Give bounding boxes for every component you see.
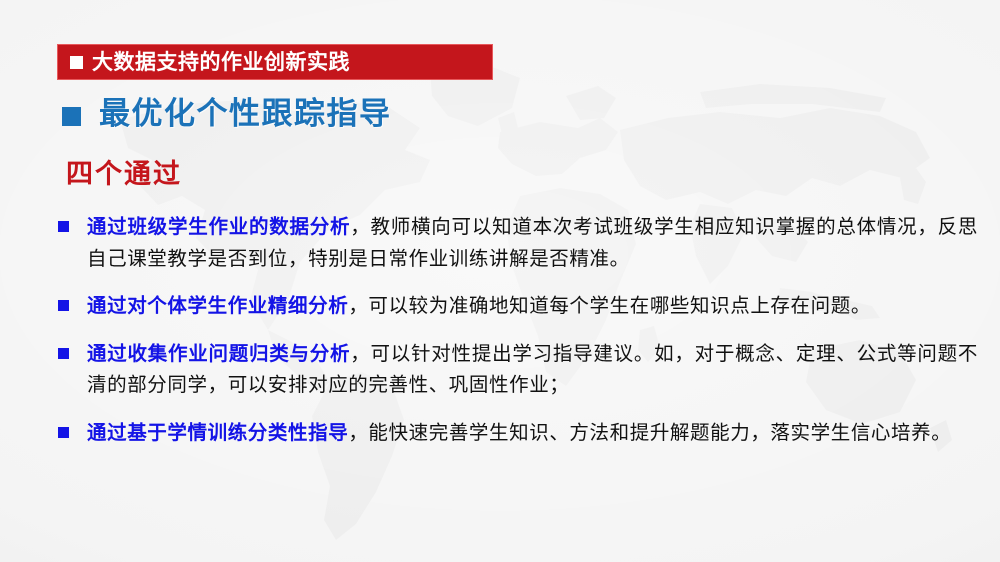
list-item: 通过班级学生作业的数据分析，教师横向可以知道本次考试班级学生相应知识掌握的总体情…: [58, 212, 978, 275]
blue-square-bullet-icon: [62, 107, 81, 126]
list-item: 通过对个体学生作业精细分析，可以较为准确地知道每个学生在哪些知识点上存在问题。: [58, 291, 978, 323]
list-item-text: 通过对个体学生作业精细分析，可以较为准确地知道每个学生在哪些知识点上存在问题。: [87, 291, 978, 323]
list-item-highlight: 通过收集作业问题归类与分析: [87, 344, 350, 365]
blue-square-bullet-icon: [58, 348, 69, 359]
blue-square-bullet-icon: [58, 221, 69, 232]
blue-square-bullet-icon: [58, 300, 69, 311]
list-item-text: 通过班级学生作业的数据分析，教师横向可以知道本次考试班级学生相应知识掌握的总体情…: [87, 212, 978, 275]
list-item-text: 通过基于学情训练分类性指导，能快速完善学生知识、方法和提升解题能力，落实学生信心…: [87, 418, 978, 450]
list-item: 通过基于学情训练分类性指导，能快速完善学生知识、方法和提升解题能力，落实学生信心…: [58, 418, 978, 450]
list-item-body: ，能快速完善学生知识、方法和提升解题能力，落实学生信心培养。: [348, 423, 951, 444]
section-banner: 大数据支持的作业创新实践: [57, 44, 493, 80]
list-item-highlight: 通过基于学情训练分类性指导: [87, 423, 348, 444]
list-item-body: ，可以较为准确地知道每个学生在哪些知识点上存在问题。: [348, 296, 871, 317]
white-square-bullet-icon: [70, 56, 83, 69]
slide: 大数据支持的作业创新实践 最优化个性跟踪指导 四个通过 通过班级学生作业的数据分…: [0, 0, 1000, 562]
list-item: 通过收集作业问题归类与分析，可以针对性提出学习指导建议。如，对于概念、定理、公式…: [58, 339, 978, 402]
list-item-text: 通过收集作业问题归类与分析，可以针对性提出学习指导建议。如，对于概念、定理、公式…: [87, 339, 978, 402]
section-banner-title: 大数据支持的作业创新实践: [92, 52, 350, 73]
subheading-label: 四个通过: [66, 160, 182, 190]
page-title-label: 最优化个性跟踪指导: [99, 97, 392, 131]
page-title: 最优化个性跟踪指导: [62, 97, 392, 131]
list-item-highlight: 通过对个体学生作业精细分析: [87, 296, 348, 317]
blue-square-bullet-icon: [58, 427, 69, 438]
list-item-highlight: 通过班级学生作业的数据分析: [87, 217, 350, 238]
bullet-list: 通过班级学生作业的数据分析，教师横向可以知道本次考试班级学生相应知识掌握的总体情…: [58, 212, 978, 465]
